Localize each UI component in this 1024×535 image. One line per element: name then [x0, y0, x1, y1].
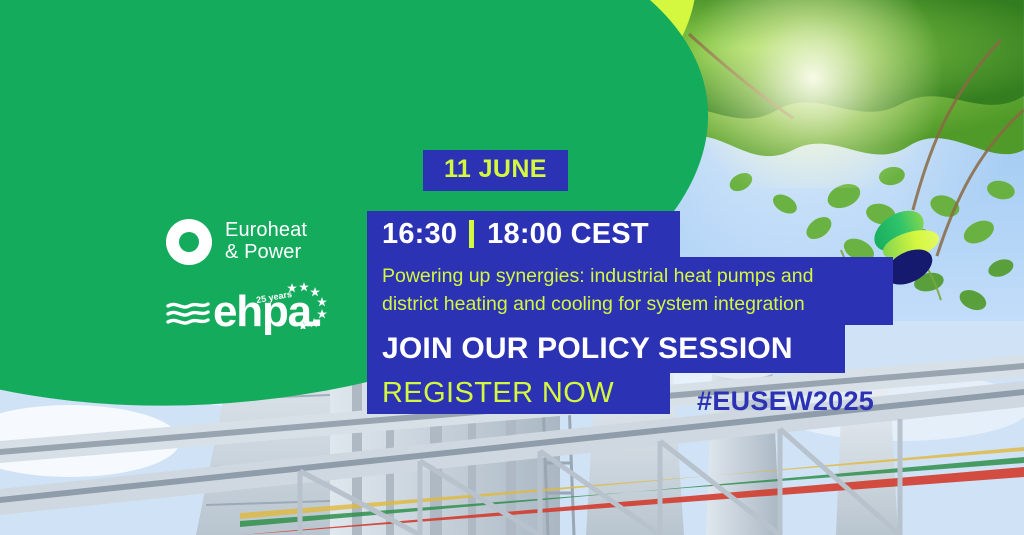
- time-divider-bar: [469, 220, 474, 248]
- euroheat-line2: & Power: [225, 241, 301, 263]
- event-promo-banner: Euroheat & Power ehpa .: [0, 0, 1024, 535]
- register-cta-panel[interactable]: REGISTER NOW: [367, 373, 670, 414]
- register-cta-text: REGISTER NOW: [382, 379, 614, 408]
- description-line-1: Powering up synergies: industrial heat p…: [382, 263, 893, 291]
- logo-group: Euroheat & Power ehpa .: [166, 219, 366, 331]
- time-end: 18:00 CEST: [487, 220, 649, 249]
- session-description-panel: Powering up synergies: industrial heat p…: [367, 257, 893, 325]
- event-hashtag: #EUSEW2025: [697, 388, 874, 415]
- cta-headline-text: JOIN OUR POLICY SESSION: [382, 334, 793, 364]
- description-line-2: district heating and cooling for system …: [382, 291, 893, 319]
- time-start: 16:30: [382, 220, 457, 249]
- waves-icon: [166, 299, 210, 327]
- euroheat-power-logo: Euroheat & Power: [166, 219, 366, 265]
- ehpa-logo: ehpa . 25 years: [166, 287, 366, 331]
- euroheat-line1: Euroheat: [225, 219, 307, 241]
- cta-headline-panel: JOIN OUR POLICY SESSION: [367, 325, 845, 373]
- date-badge: 11 JUNE: [423, 150, 568, 191]
- ring-icon: [166, 219, 212, 265]
- time-panel: 16:30 18:00 CEST: [367, 211, 680, 257]
- eu-stars-icon: 25 years: [252, 281, 338, 329]
- euroheat-power-wordmark: Euroheat & Power: [225, 220, 307, 263]
